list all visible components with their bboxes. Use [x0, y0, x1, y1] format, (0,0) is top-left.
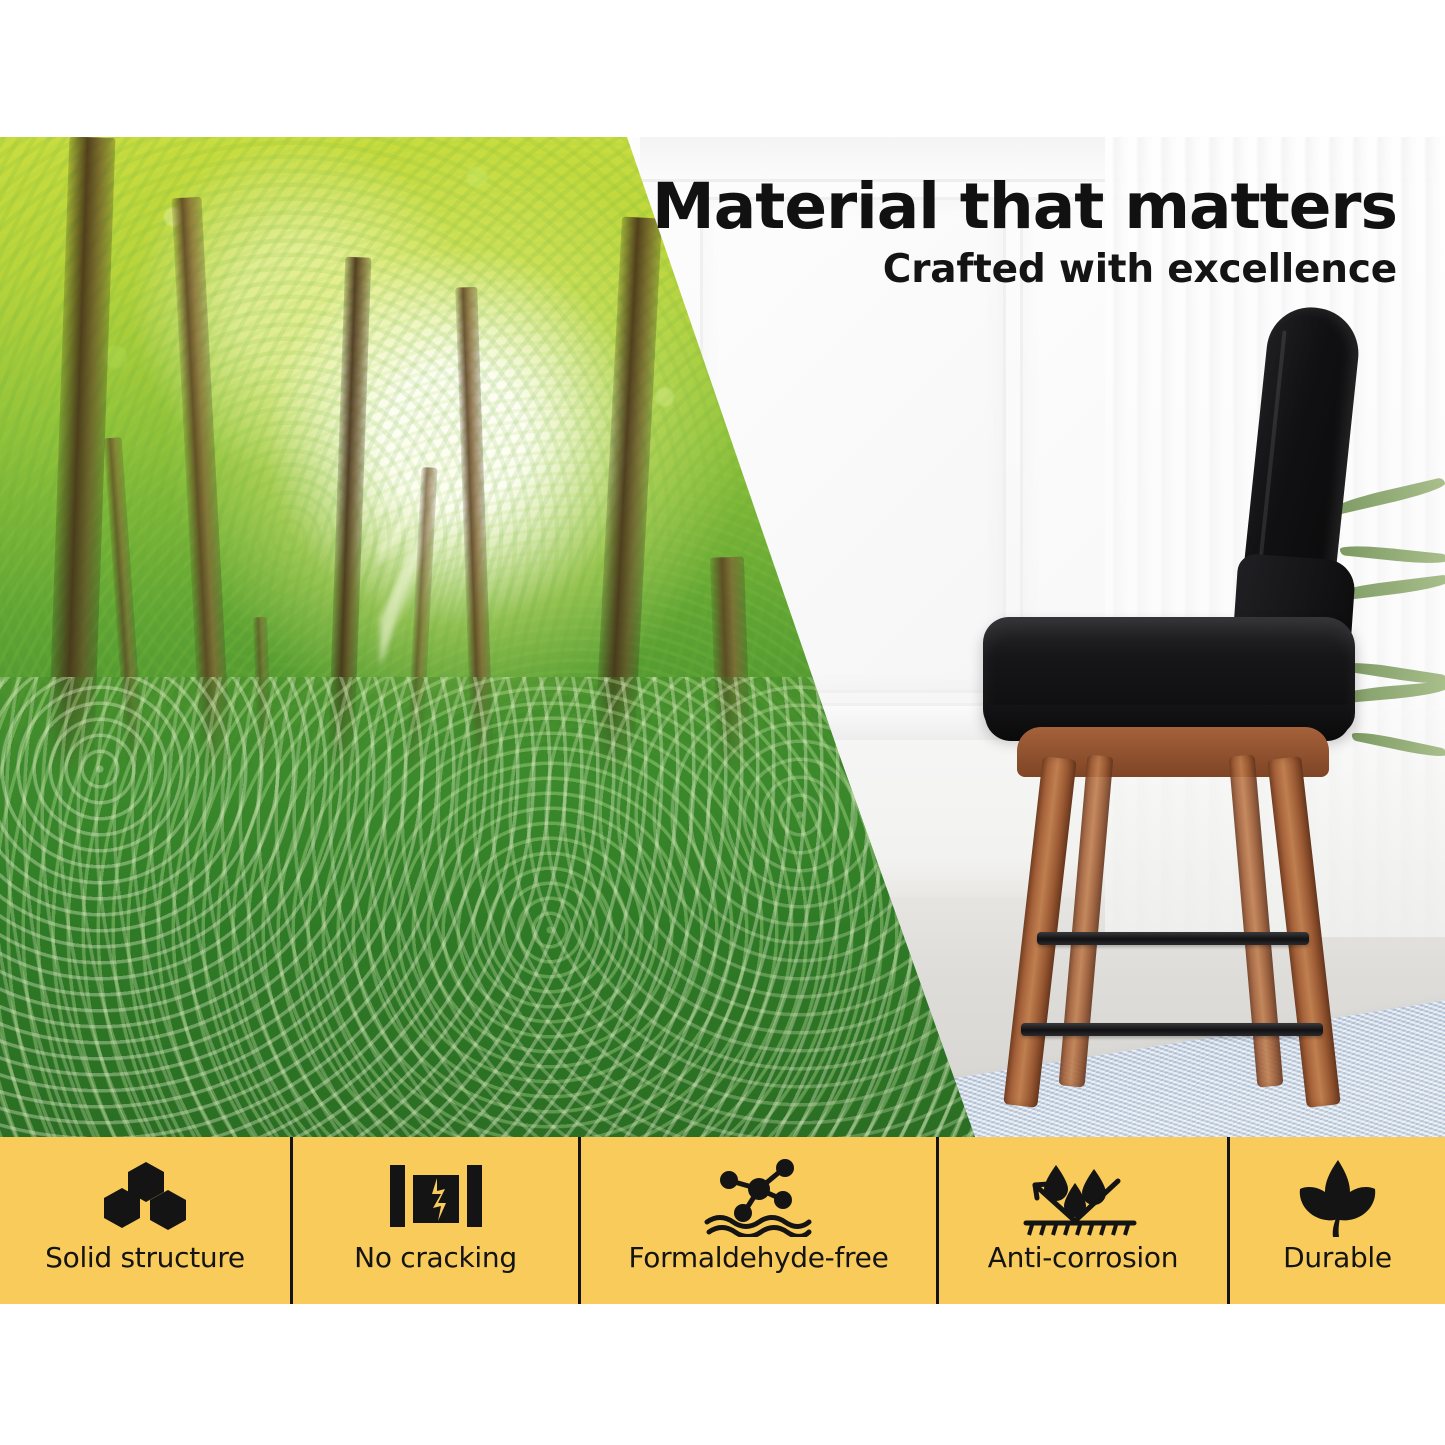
page-subtitle: Crafted with excellence — [652, 247, 1397, 292]
page-title: Material that matters — [652, 175, 1397, 238]
hexagons-icon — [102, 1159, 188, 1237]
cracked-panel-icon — [388, 1159, 484, 1237]
feature-bar: Solid structure No cracking — [0, 1137, 1445, 1304]
bar-stool-product — [955, 307, 1395, 1107]
leaf-icon — [1292, 1159, 1384, 1237]
feature-label: Durable — [1283, 1241, 1392, 1274]
stool-leg-frame — [955, 727, 1395, 1107]
feature-no-cracking: No cracking — [293, 1137, 578, 1304]
feature-solid-structure: Solid structure — [0, 1137, 290, 1304]
feature-anti-corrosion: Anti-corrosion — [939, 1137, 1227, 1304]
molecule-waves-icon — [699, 1159, 819, 1237]
hero-image: Material that matters Crafted with excel… — [0, 137, 1445, 1137]
feature-label: No cracking — [354, 1241, 517, 1274]
feature-label: Solid structure — [45, 1241, 245, 1274]
footrest-bar-lower — [1021, 1023, 1323, 1036]
feature-durable: Durable — [1230, 1137, 1445, 1304]
footrest-bar-upper — [1037, 932, 1309, 945]
water-repellent-icon — [1022, 1159, 1144, 1237]
feature-formaldehyde-free: Formaldehyde-free — [581, 1137, 936, 1304]
feature-label: Anti-corrosion — [988, 1241, 1178, 1274]
product-feature-banner: Material that matters Crafted with excel… — [0, 0, 1445, 1445]
feature-label: Formaldehyde-free — [629, 1241, 889, 1274]
headline-block: Material that matters Crafted with excel… — [652, 175, 1397, 292]
